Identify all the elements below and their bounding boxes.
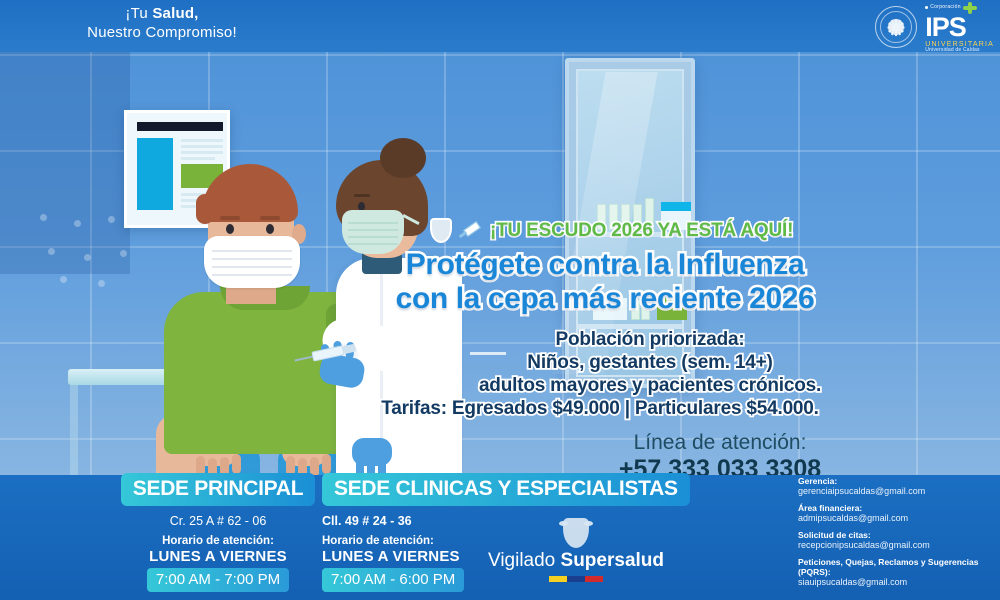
sede-clinicas-hours: 7:00 AM - 6:00 PM (322, 568, 464, 592)
tagline: ¡Tu Salud, Nuestro Compromiso! (12, 4, 312, 42)
patient-face-mask (204, 236, 300, 288)
sede-principal-title: SEDE PRINCIPAL (121, 473, 315, 506)
contact-label: Peticiones, Quejas, Reclamos y Sugerenci… (798, 557, 988, 577)
vaccination-campaign-poster: ¡Tu Salud, Nuestro Compromiso! Corporaci… (0, 0, 1000, 600)
priority-population-block: Población priorizada: Niños, gestantes (… (440, 328, 860, 397)
vigilado-bold: Supersalud (561, 550, 664, 571)
headline-line-2: con la cepa más reciente 2026 (355, 282, 855, 316)
headline: Protégete contra la Influenza con la cep… (355, 248, 855, 316)
contact-label: Área financiera: (798, 503, 988, 513)
ips-logo: Corporación IPS UNIVERSITARIA Universida… (925, 2, 994, 53)
text-divider (470, 352, 506, 355)
pricing-block: Tarifas: Egresados $49.000 | Particulare… (330, 398, 870, 420)
medical-cross-icon (963, 2, 977, 14)
contact-item: Gerencia: gerenciaipsucaldas@gmail.com (798, 476, 988, 497)
colombia-coat-of-arms-icon (563, 518, 589, 548)
contact-item: Área financiera: admipsucaldas@gmail.com (798, 503, 988, 524)
sede-principal-hours: 7:00 AM - 7:00 PM (147, 568, 289, 592)
university-seal-icon (875, 6, 917, 48)
headline-line-1: Protégete contra la Influenza (355, 248, 855, 282)
logo-group: Corporación IPS UNIVERSITARIA Universida… (875, 4, 994, 50)
contact-item: Peticiones, Quejas, Reclamos y Sugerenci… (798, 557, 988, 588)
kicker-row: ¡TU ESCUDO 2026 YA ESTÁ AQUÍ! (430, 218, 850, 243)
contacts-list: Gerencia: gerenciaipsucaldas@gmail.com Á… (798, 476, 988, 594)
sede-principal-block: SEDE PRINCIPAL Cr. 25 A # 62 - 06 Horari… (118, 473, 318, 592)
tagline-prefix: ¡Tu (125, 5, 152, 22)
sede-principal-address: Cr. 25 A # 62 - 06 (118, 514, 318, 528)
ips-sub-label: Universidad de Caldas (925, 48, 994, 53)
kicker-text: ¡TU ESCUDO 2026 YA ESTÁ AQUÍ! (490, 220, 793, 242)
hotline-label: Línea de atención: (560, 430, 880, 455)
patient-hair (202, 164, 298, 222)
pricing-text: Tarifas: Egresados $49.000 | Particulare… (330, 398, 870, 420)
nurse-hair-bun (380, 138, 426, 178)
contact-label: Solicitud de citas: (798, 530, 988, 540)
ips-corporacion-label: Corporación (930, 5, 961, 10)
population-line-1: Población priorizada: (440, 328, 860, 351)
footer-bar: SEDE PRINCIPAL Cr. 25 A # 62 - 06 Horari… (0, 475, 1000, 600)
sede-clinicas-title: SEDE CLINICAS Y ESPECIALISTAS (322, 473, 690, 506)
vigilado-supersalud-logo: Vigilado Supersalud (486, 518, 666, 582)
sede-principal-schedule-label: Horario de atención: (118, 535, 318, 547)
tagline-bold: Salud, (152, 5, 198, 22)
nurse-figure (318, 138, 498, 498)
contact-email[interactable]: gerenciaipsucaldas@gmail.com (798, 486, 988, 497)
patient-eye (226, 224, 234, 234)
contact-item: Solicitud de citas: recepcionipsucaldas@… (798, 530, 988, 551)
contact-email[interactable]: siauipsucaldas@gmail.com (798, 577, 988, 588)
sede-principal-days: LUNES A VIERNES (118, 548, 318, 565)
colombia-flag-bar (549, 576, 603, 582)
contact-label: Gerencia: (798, 476, 988, 486)
syringe-icon (458, 219, 484, 243)
population-line-3: adultos mayores y pacientes crónicos. (440, 374, 860, 397)
contact-email[interactable]: admipsucaldas@gmail.com (798, 513, 988, 524)
header-band: ¡Tu Salud, Nuestro Compromiso! Corporaci… (0, 0, 1000, 52)
vigilado-prefix: Vigilado (488, 550, 561, 571)
contact-email[interactable]: recepcionipsucaldas@gmail.com (798, 540, 988, 551)
wall-poster-title-bar (137, 122, 223, 131)
tagline-line2: Nuestro Compromiso! (12, 23, 312, 42)
patient-eye (266, 224, 274, 234)
ips-acronym: IPS (925, 14, 994, 41)
exam-bench-leg (70, 385, 78, 475)
shield-icon (430, 218, 452, 243)
